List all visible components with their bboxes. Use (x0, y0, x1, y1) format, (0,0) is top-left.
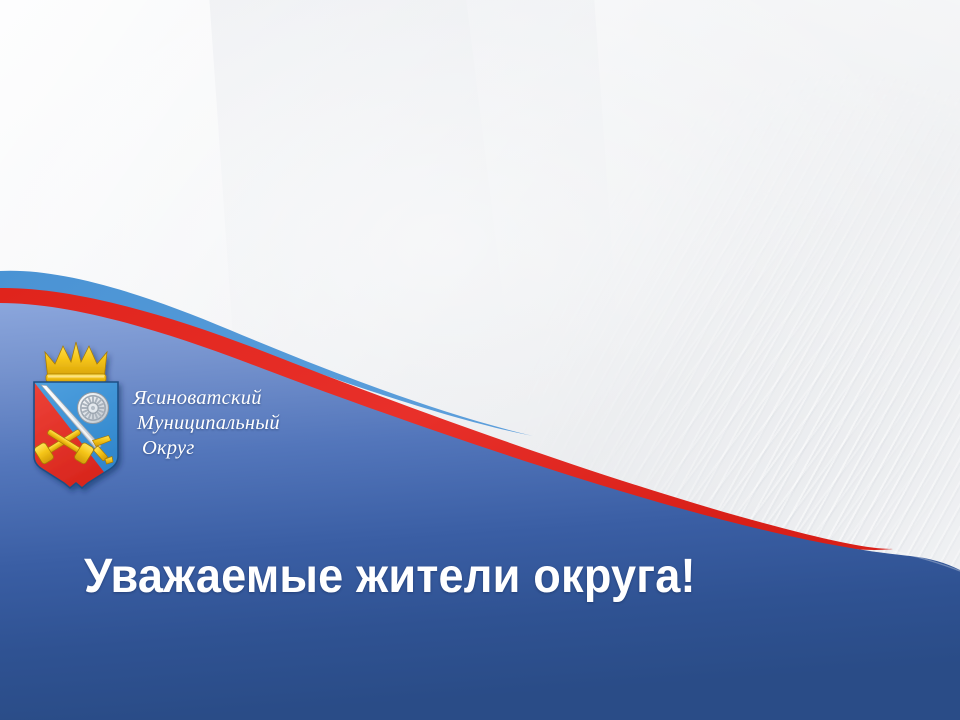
coat-of-arms (22, 338, 130, 500)
emblem-wordmark: Ясиноватский Муниципальный Округ (133, 386, 363, 461)
shield (22, 382, 118, 490)
blue-field (0, 303, 960, 720)
ribbon-artwork (0, 0, 960, 720)
crown-icon (45, 342, 107, 382)
wordmark-line-1: Ясиноватский (133, 386, 363, 411)
wordmark-line-2: Муниципальный (133, 411, 363, 436)
banner: Ясиноватский Муниципальный Округ Уважаем… (0, 0, 960, 720)
headline: Уважаемые жители округа! (84, 551, 696, 603)
wordmark-line-3: Округ (133, 436, 363, 461)
wheel-icon (78, 393, 109, 424)
